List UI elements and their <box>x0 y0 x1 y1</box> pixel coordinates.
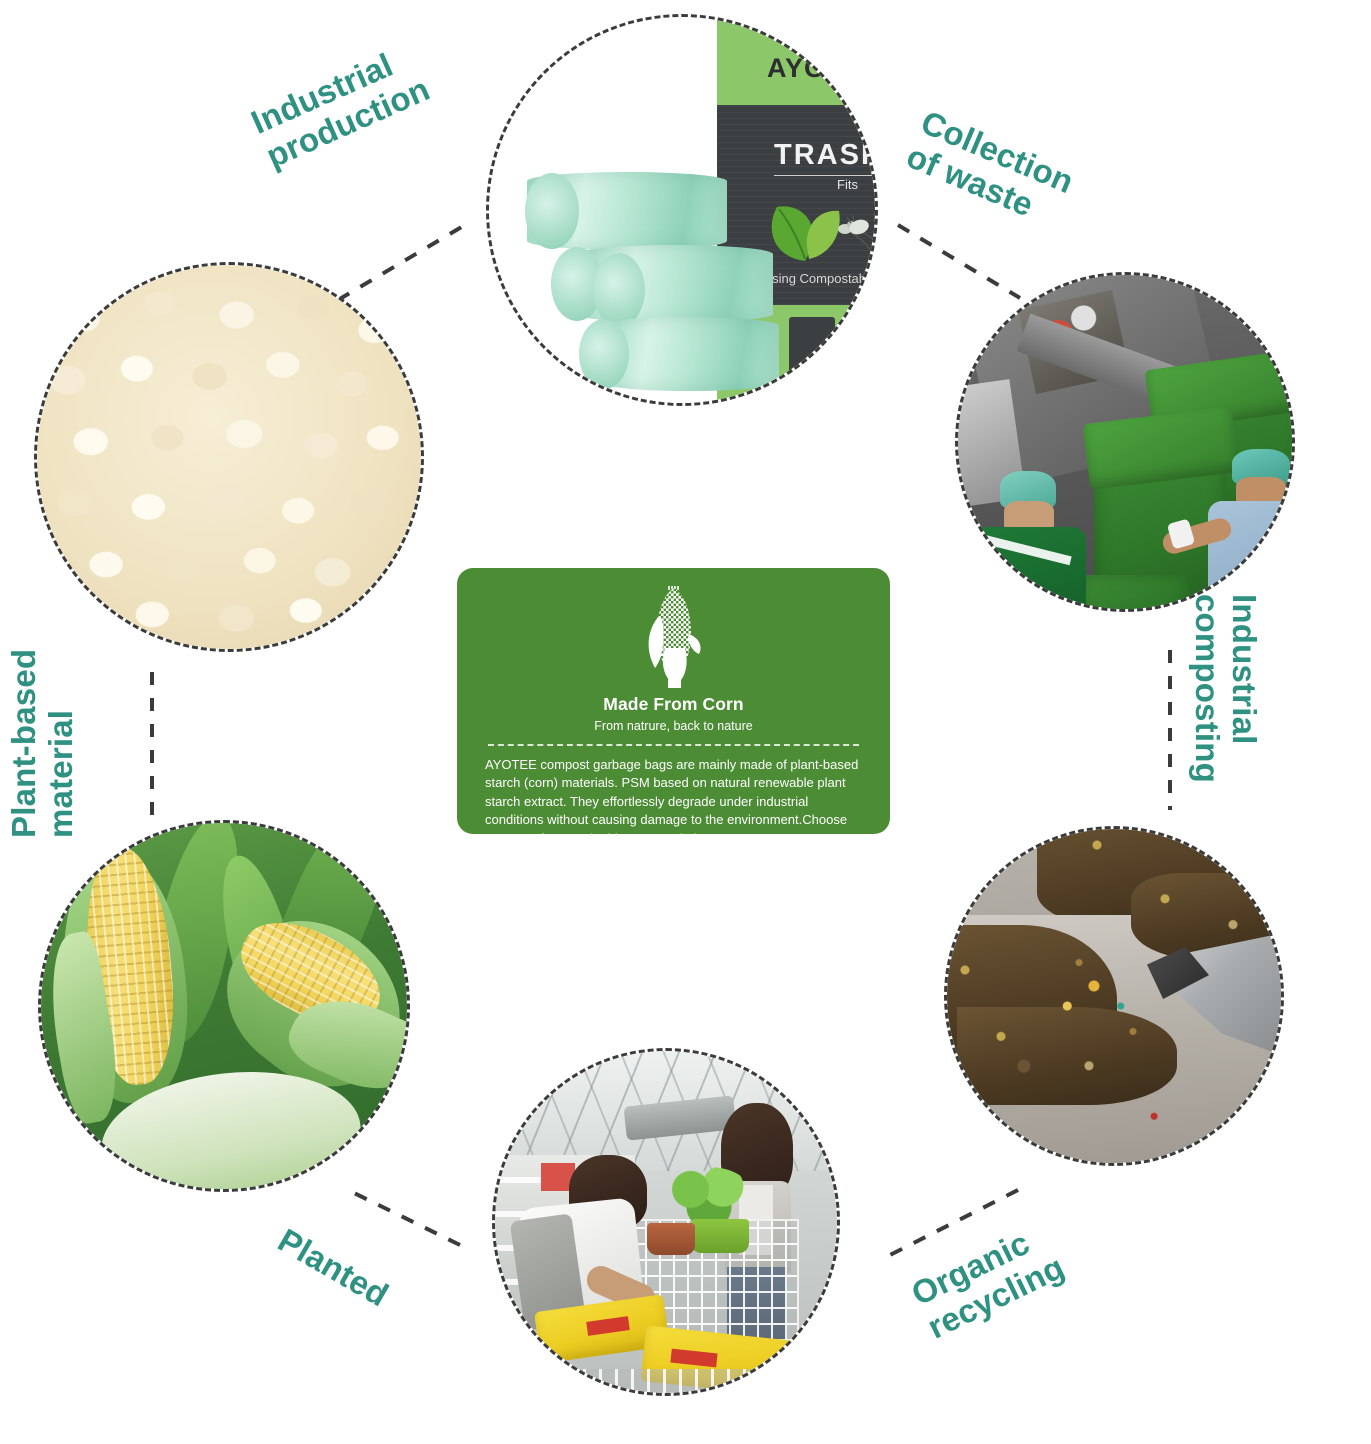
node-industrial-production: AYO TRASH Fits Choosing Compostab <box>486 14 878 406</box>
garden-center-photo <box>495 1051 837 1393</box>
compost-facility-photo <box>947 829 1281 1163</box>
pellet-cluster <box>37 265 421 649</box>
node-plant-based-material <box>34 262 424 652</box>
worker-green-uniform <box>964 471 1086 609</box>
label-industrial-production: Industrial production <box>246 37 435 175</box>
corn-cob-icon-wrap <box>485 586 862 690</box>
card-subtitle: From natrure, back to nature <box>485 719 862 733</box>
compostable-lifecycle-infographic: AYO TRASH Fits Choosing Compostab <box>0 0 1371 1444</box>
node-industrial-composting <box>944 826 1284 1166</box>
compost-debris <box>947 829 1281 1163</box>
node-collection-of-waste <box>955 272 1295 612</box>
label-industrial-composting: Industrial composting <box>1188 594 1262 783</box>
card-divider <box>488 744 859 746</box>
card-body-text: AYOTEE compost garbage bags are mainly m… <box>485 756 862 848</box>
node-organic-recycling-garden <box>492 1048 840 1396</box>
product-name-underline <box>774 175 875 176</box>
green-bin-bottom <box>1080 575 1190 609</box>
label-organic-recycling: Organic recycling <box>906 1216 1070 1347</box>
starch-pellets-photo <box>37 265 421 649</box>
worker-blue-shirt <box>1208 449 1292 609</box>
product-fit-text: Fits <box>837 177 858 192</box>
bag-roll-top-end <box>525 173 579 249</box>
trash-bag-rolls-photo: AYO TRASH Fits Choosing Compostab <box>489 17 875 403</box>
corn-cob-icon <box>641 586 707 690</box>
bag-roll-second-end <box>593 253 645 327</box>
corn-field-photo <box>41 823 407 1189</box>
label-collection-of-waste: Collection of waste <box>901 104 1079 235</box>
product-box-bottom-notch <box>789 317 835 403</box>
label-plant-based-material: Plant-based material <box>6 649 80 838</box>
plant-pot <box>691 1219 749 1253</box>
cart-lower-rack <box>535 1369 795 1393</box>
waste-collection-photo <box>958 275 1292 609</box>
card-title: Made From Corn <box>485 694 862 715</box>
label-planted: Planted <box>272 1222 395 1314</box>
made-from-corn-card: Made From Corn From natrure, back to nat… <box>457 568 890 834</box>
bag-roll-bottom-end <box>579 319 629 389</box>
node-planted-material-corn <box>38 820 410 1192</box>
product-name-text: TRASH <box>774 139 875 172</box>
product-brand-text: AYO <box>767 53 826 84</box>
